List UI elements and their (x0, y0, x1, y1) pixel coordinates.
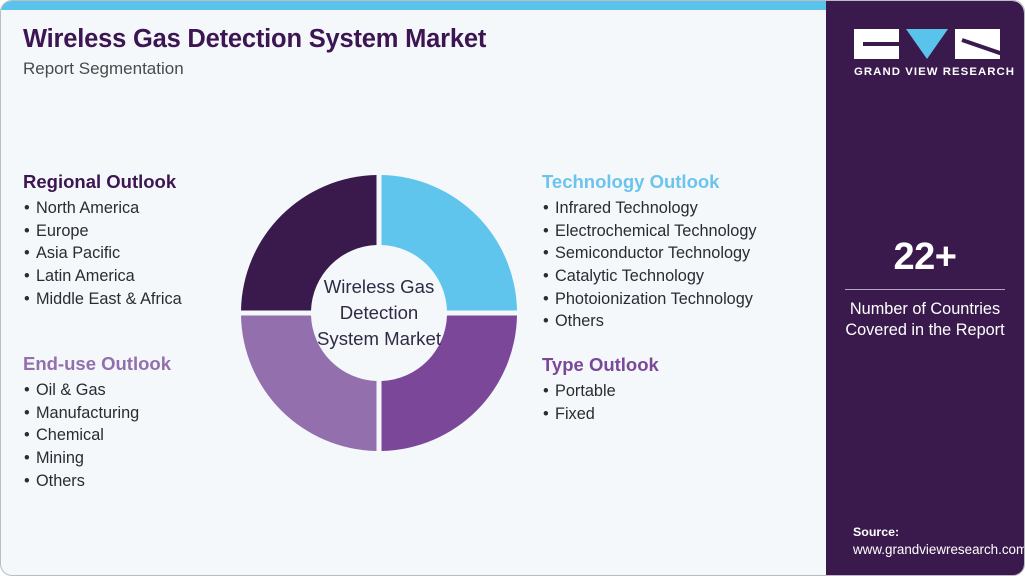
source-label: Source: (853, 523, 1025, 541)
list-item-label: Others (36, 472, 85, 490)
side-panel: GRAND VIEW RESEARCH 22+ Number of Countr… (826, 1, 1024, 576)
top-accent-bar (1, 1, 827, 10)
logo-marks (854, 29, 1000, 59)
list-item: •Photoionization Technology (542, 288, 757, 311)
bullet-icon: • (24, 379, 30, 402)
bullet-icon: • (24, 288, 30, 311)
enduse-outlook-title: End-use Outlook (23, 353, 171, 375)
enduse-outlook-block: End-use Outlook •Oil & Gas •Manufacturin… (23, 353, 171, 492)
list-item: •Infrared Technology (542, 197, 757, 220)
bullet-icon: • (24, 424, 30, 447)
brand-logo: GRAND VIEW RESEARCH (854, 29, 1000, 78)
list-item: •Asia Pacific (23, 242, 182, 265)
list-item: •Europe (23, 220, 182, 243)
bullet-icon: • (24, 402, 30, 425)
list-item: •Others (542, 310, 757, 333)
donut-center-line-2: Detection (340, 300, 419, 326)
list-item-label: Chemical (36, 426, 104, 444)
list-item-label: Manufacturing (36, 404, 139, 422)
page-subtitle: Report Segmentation (23, 59, 803, 79)
list-item-label: Europe (36, 222, 89, 240)
regional-outlook-title: Regional Outlook (23, 171, 182, 193)
bullet-icon: • (543, 380, 549, 403)
bullet-icon: • (543, 220, 549, 243)
gvr-logo-r-icon (955, 29, 1000, 59)
list-item-label: Middle East & Africa (36, 290, 182, 308)
bullet-icon: • (543, 403, 549, 426)
bullet-icon: • (24, 197, 30, 220)
donut-center-label: Wireless Gas Detection System Market (238, 172, 520, 454)
list-item: •Manufacturing (23, 402, 171, 425)
bullet-icon: • (543, 197, 549, 220)
list-item: •Others (23, 470, 171, 493)
list-item: •Portable (542, 380, 659, 403)
list-item-label: North America (36, 199, 139, 217)
list-item-label: Oil & Gas (36, 381, 106, 399)
source-block: Source: www.grandviewresearch.com (853, 523, 1025, 559)
page-title: Wireless Gas Detection System Market (23, 25, 803, 53)
type-outlook-block: Type Outlook •Portable •Fixed (542, 354, 659, 425)
bullet-icon: • (543, 288, 549, 311)
enduse-outlook-list: •Oil & Gas •Manufacturing •Chemical •Min… (23, 379, 171, 492)
bullet-icon: • (24, 447, 30, 470)
bullet-icon: • (24, 242, 30, 265)
list-item: •Catalytic Technology (542, 265, 757, 288)
stat-label-line-1: Number of Countries (826, 299, 1024, 320)
list-item-label: Catalytic Technology (555, 267, 704, 285)
type-outlook-list: •Portable •Fixed (542, 380, 659, 425)
list-item-label: Latin America (36, 267, 135, 285)
infographic-canvas: Wireless Gas Detection System Market Rep… (0, 0, 1025, 576)
list-item-label: Electrochemical Technology (555, 222, 757, 240)
list-item: •Semiconductor Technology (542, 242, 757, 265)
list-item-label: Infrared Technology (555, 199, 698, 217)
list-item-label: Photoionization Technology (555, 290, 753, 308)
stat-label-line-2: Covered in the Report (826, 320, 1024, 341)
list-item-label: Mining (36, 449, 84, 467)
list-item-label: Portable (555, 382, 616, 400)
brand-name: GRAND VIEW RESEARCH (854, 66, 1000, 78)
list-item: •Latin America (23, 265, 182, 288)
list-item-label: Fixed (555, 405, 595, 423)
list-item-label: Others (555, 312, 604, 330)
technology-outlook-title: Technology Outlook (542, 171, 757, 193)
regional-outlook-block: Regional Outlook •North America •Europe … (23, 171, 182, 310)
gvr-logo-v-triangle-icon (906, 29, 948, 59)
list-item: •Chemical (23, 424, 171, 447)
technology-outlook-list: •Infrared Technology •Electrochemical Te… (542, 197, 757, 333)
segmentation-donut-chart: Wireless Gas Detection System Market (238, 172, 520, 454)
bullet-icon: • (543, 265, 549, 288)
type-outlook-title: Type Outlook (542, 354, 659, 376)
country-count-stat: 22+ Number of Countries Covered in the R… (826, 238, 1024, 341)
bullet-icon: • (24, 265, 30, 288)
list-item: •North America (23, 197, 182, 220)
bullet-icon: • (24, 470, 30, 493)
bullet-icon: • (543, 242, 549, 265)
technology-outlook-block: Technology Outlook •Infrared Technology … (542, 171, 757, 333)
source-url[interactable]: www.grandviewresearch.com (853, 541, 1025, 559)
stat-divider (845, 289, 1005, 290)
gvr-logo-g-icon (854, 29, 899, 59)
donut-center-line-3: System Market (317, 326, 441, 352)
list-item: •Electrochemical Technology (542, 220, 757, 243)
list-item: •Fixed (542, 403, 659, 426)
header: Wireless Gas Detection System Market Rep… (23, 25, 803, 79)
bullet-icon: • (24, 220, 30, 243)
regional-outlook-list: •North America •Europe •Asia Pacific •La… (23, 197, 182, 310)
donut-center-line-1: Wireless Gas (324, 274, 435, 300)
list-item: •Oil & Gas (23, 379, 171, 402)
bullet-icon: • (543, 310, 549, 333)
list-item: •Mining (23, 447, 171, 470)
list-item-label: Semiconductor Technology (555, 244, 750, 262)
list-item-label: Asia Pacific (36, 244, 120, 262)
list-item: •Middle East & Africa (23, 288, 182, 311)
stat-value: 22+ (826, 238, 1024, 276)
